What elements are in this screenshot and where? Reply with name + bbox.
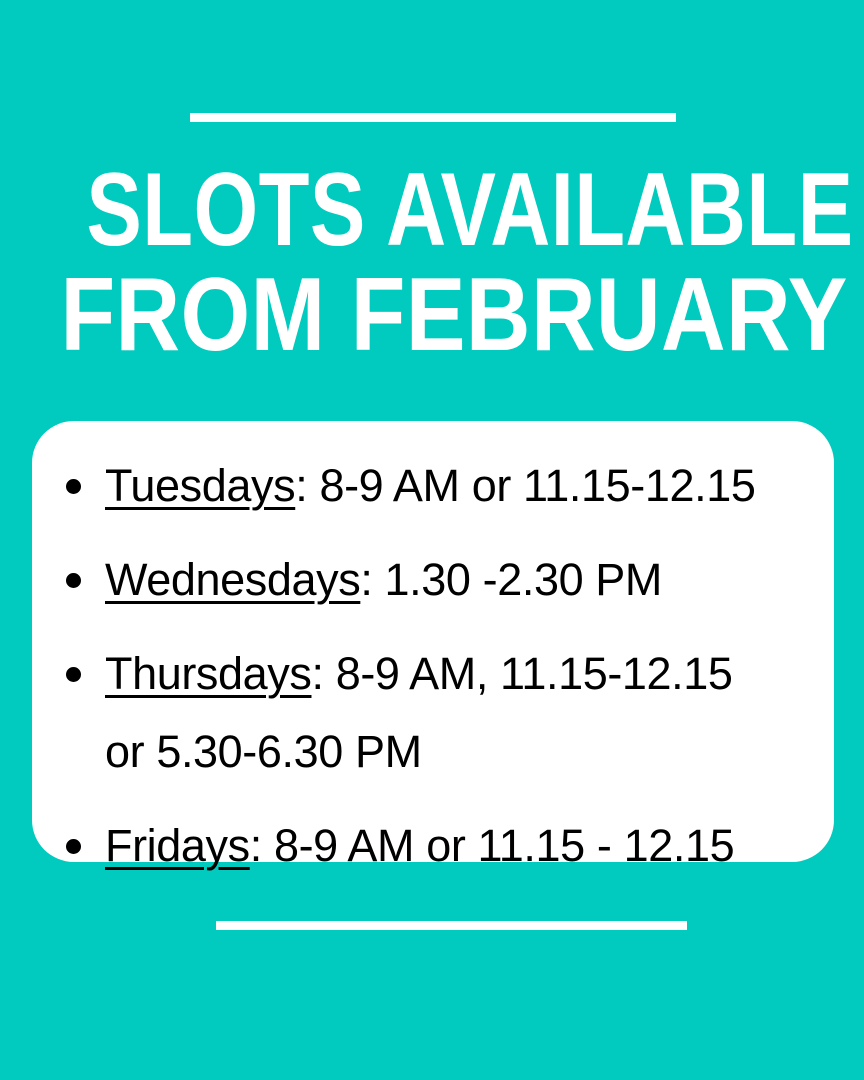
- bullet-icon: [66, 479, 81, 494]
- slot-separator: :: [311, 648, 323, 699]
- list-item: Fridays: 8-9 AM or 11.15 - 12.15: [32, 807, 834, 885]
- slot-separator: :: [295, 460, 307, 511]
- bullet-icon: [66, 667, 81, 682]
- list-item: Tuesdays: 8-9 AM or 11.15-12.15: [32, 447, 834, 525]
- bullet-icon: [66, 573, 81, 588]
- slot-times: 1.30 -2.30 PM: [372, 554, 662, 605]
- slot-times: 8-9 AM or 11.15-12.15: [307, 460, 755, 511]
- page-title: SLOTS AVAILABLE FROM FEBRUARY 2025: [0, 158, 864, 368]
- slot-times: 8-9 AM or 11.15 - 12.15: [262, 820, 734, 871]
- bottom-divider-rule: [216, 921, 687, 930]
- top-divider-rule: [190, 113, 676, 122]
- slot-times-continued: or 5.30-6.30 PM: [105, 713, 834, 791]
- slots-card: Tuesdays: 8-9 AM or 11.15-12.15 Wednesda…: [32, 421, 834, 862]
- list-item: Thursdays: 8-9 AM, 11.15-12.15 or 5.30-6…: [32, 635, 834, 791]
- page-title-line-2: FROM FEBRUARY 2025: [60, 263, 803, 368]
- slot-day-label: Tuesdays: [105, 460, 295, 511]
- list-item: Wednesdays: 1.30 -2.30 PM: [32, 541, 834, 619]
- slot-separator: :: [250, 820, 262, 871]
- slot-separator: :: [360, 554, 372, 605]
- slot-day-label: Wednesdays: [105, 554, 360, 605]
- bullet-icon: [66, 839, 81, 854]
- slot-times: 8-9 AM, 11.15-12.15: [324, 648, 733, 699]
- slots-list: Tuesdays: 8-9 AM or 11.15-12.15 Wednesda…: [32, 447, 834, 901]
- slot-day-label: Fridays: [105, 820, 250, 871]
- slot-day-label: Thursdays: [105, 648, 311, 699]
- poster-canvas: SLOTS AVAILABLE FROM FEBRUARY 2025 Tuesd…: [0, 0, 864, 1080]
- page-title-line-1: SLOTS AVAILABLE: [86, 158, 777, 263]
